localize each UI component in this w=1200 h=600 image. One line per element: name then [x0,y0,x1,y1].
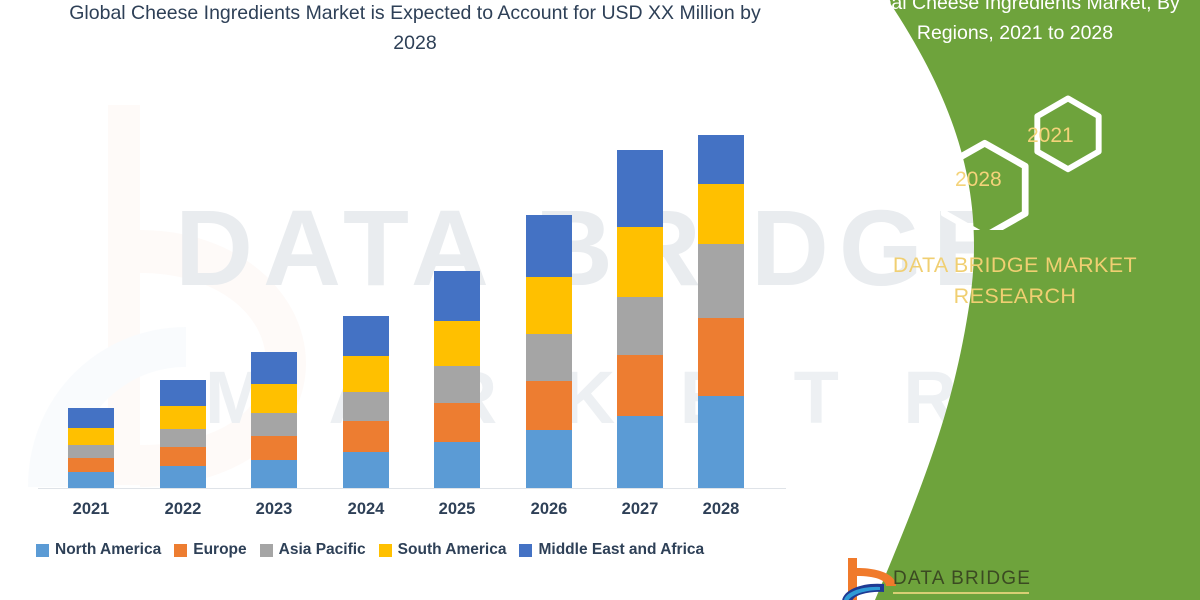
x-axis-label-2022: 2022 [143,500,223,519]
legend-item-asia-pacific[interactable]: Asia Pacific [260,541,366,559]
bar-segment-asia-pacific[interactable] [617,297,663,355]
bar-segment-middle-east-and-africa[interactable] [251,352,297,384]
x-axis-label-2024: 2024 [326,500,406,519]
bar-segment-asia-pacific[interactable] [160,429,206,447]
bar-segment-middle-east-and-africa[interactable] [160,380,206,406]
logo-underline [893,592,1029,594]
bar-segment-middle-east-and-africa[interactable] [617,150,663,227]
bar-segment-asia-pacific[interactable] [526,334,572,381]
brand-name: DATA BRIDGE MARKET RESEARCH [885,250,1145,312]
bar-segment-middle-east-and-africa[interactable] [698,135,744,184]
bar-2021[interactable] [68,408,114,488]
infographic-root: DATA BRIDGE M A R K E T R E S E A R C H … [0,0,1200,600]
bar-segment-north-america[interactable] [526,430,572,488]
x-axis-label-2025: 2025 [417,500,497,519]
bar-2025[interactable] [434,271,480,488]
legend-item-south-america[interactable]: South America [379,541,507,559]
legend-label: Asia Pacific [279,541,366,559]
bar-segment-europe[interactable] [343,421,389,452]
x-axis-label-2028: 2028 [681,500,761,519]
bar-segment-europe[interactable] [251,436,297,460]
bar-segment-north-america[interactable] [68,472,114,488]
chart-plot-area: 20212022202320242025202620272028 North A… [0,0,800,600]
bar-segment-south-america[interactable] [68,428,114,445]
bar-segment-south-america[interactable] [251,384,297,413]
bar-2026[interactable] [526,215,572,488]
hexagon-label-end: 2028 [955,168,1002,192]
chart-legend: North AmericaEuropeAsia PacificSouth Ame… [36,538,796,562]
bar-segment-south-america[interactable] [160,406,206,429]
legend-item-europe[interactable]: Europe [174,541,246,559]
bar-2027[interactable] [617,150,663,488]
legend-swatch-icon [260,544,273,557]
legend-label: North America [55,541,161,559]
data-bridge-wordmark: DATA BRIDGE [893,568,1031,590]
bar-2028[interactable] [698,135,744,488]
x-axis-label-2026: 2026 [509,500,589,519]
bar-segment-europe[interactable] [698,318,744,396]
bar-segment-south-america[interactable] [698,184,744,244]
bar-segment-south-america[interactable] [617,227,663,297]
legend-swatch-icon [174,544,187,557]
bar-segment-asia-pacific[interactable] [698,244,744,318]
x-axis-labels: 20212022202320242025202620272028 [0,500,800,526]
bar-2023[interactable] [251,352,297,488]
bar-segment-north-america[interactable] [698,396,744,488]
x-axis-label-2021: 2021 [51,500,131,519]
legend-label: Middle East and Africa [538,541,704,559]
bar-segment-europe[interactable] [160,447,206,466]
bar-segment-middle-east-and-africa[interactable] [434,271,480,321]
x-axis-line [38,488,786,489]
legend-label: South America [398,541,507,559]
bar-segment-europe[interactable] [68,458,114,472]
legend-swatch-icon [519,544,532,557]
bar-segment-south-america[interactable] [434,321,480,366]
bar-segment-middle-east-and-africa[interactable] [68,408,114,428]
legend-swatch-icon [36,544,49,557]
hexagon-label-start: 2021 [1027,124,1074,148]
bar-segment-north-america[interactable] [434,442,480,488]
bar-segment-asia-pacific[interactable] [343,392,389,421]
hexagon-badges [915,95,1125,230]
bar-segment-north-america[interactable] [160,466,206,488]
chart-title: Global Cheese Ingredients Market is Expe… [55,0,775,58]
bar-2022[interactable] [160,380,206,488]
bar-segment-europe[interactable] [434,403,480,442]
legend-item-middle-east-and-africa[interactable]: Middle East and Africa [519,541,704,559]
x-axis-label-2023: 2023 [234,500,314,519]
bar-segment-europe[interactable] [526,381,572,430]
legend-item-north-america[interactable]: North America [36,541,161,559]
bar-segment-asia-pacific[interactable] [68,445,114,458]
bar-2024[interactable] [343,316,389,488]
bar-segment-asia-pacific[interactable] [434,366,480,403]
bar-segment-north-america[interactable] [251,460,297,488]
legend-swatch-icon [379,544,392,557]
x-axis-label-2027: 2027 [600,500,680,519]
bar-segment-middle-east-and-africa[interactable] [343,316,389,356]
bar-segment-north-america[interactable] [617,416,663,488]
bar-segment-asia-pacific[interactable] [251,413,297,436]
bar-segment-south-america[interactable] [343,356,389,392]
panel-title: Global Cheese Ingredients Market, By Reg… [835,0,1195,48]
bar-segment-middle-east-and-africa[interactable] [526,215,572,277]
bar-segment-europe[interactable] [617,355,663,416]
legend-label: Europe [193,541,246,559]
bar-segment-south-america[interactable] [526,277,572,334]
bar-segment-north-america[interactable] [343,452,389,488]
